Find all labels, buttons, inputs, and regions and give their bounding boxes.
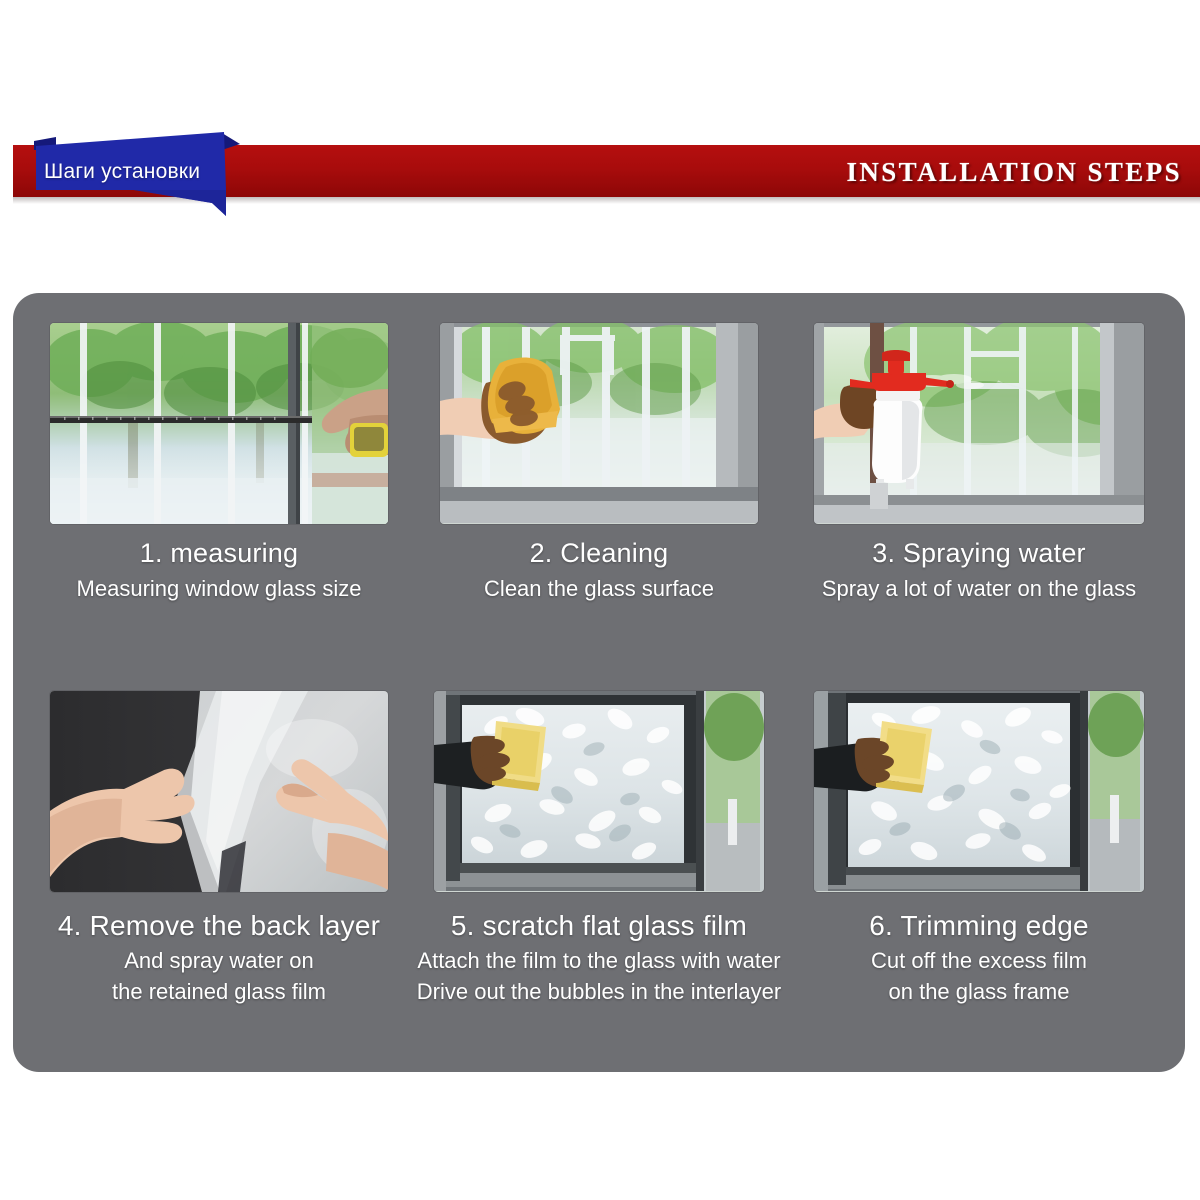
- step-desc-4-line-1: And spray water on: [124, 948, 314, 974]
- step-item-3: 3. Spraying water Spray a lot of water o…: [789, 323, 1169, 691]
- trimming-edge-scene-icon: [814, 691, 1144, 891]
- step-image-4: [50, 691, 388, 892]
- step-desc-5-line-1: Attach the film to the glass with water: [417, 948, 780, 974]
- step-image-5: [434, 691, 764, 892]
- header-title-english: INSTALLATION STEPS: [846, 150, 1182, 194]
- step-desc-3-line-1: Spray a lot of water on the glass: [822, 576, 1136, 602]
- steps-card: 1. measuring Measuring window glass size: [13, 293, 1185, 1072]
- cleaning-glass-scene-icon: [440, 323, 758, 523]
- step-item-2: 2. Cleaning Clean the glass surface: [409, 323, 789, 691]
- step-image-3: [814, 323, 1144, 524]
- step-item-6: 6. Trimming edge Cut off the excess film…: [789, 691, 1169, 1059]
- step-title-6: 6. Trimming edge: [869, 910, 1089, 942]
- step-desc-2-line-1: Clean the glass surface: [484, 576, 714, 602]
- step-item-4: 4. Remove the back layer And spray water…: [29, 691, 409, 1059]
- step-image-6: [814, 691, 1144, 892]
- step-title-3: 3. Spraying water: [872, 538, 1086, 569]
- ribbon-label: Шаги установки: [44, 160, 252, 184]
- step-image-2: [440, 323, 758, 524]
- steps-grid: 1. measuring Measuring window glass size: [13, 293, 1185, 1072]
- step-image-1: [50, 323, 388, 524]
- step-item-1: 1. measuring Measuring window glass size: [29, 323, 409, 691]
- squeegee-film-scene-icon: [434, 691, 764, 891]
- step-desc-4-line-2: the retained glass film: [112, 979, 326, 1005]
- step-desc-5-line-2: Drive out the bubbles in the interlayer: [417, 979, 781, 1005]
- step-desc-6-line-2: on the glass frame: [889, 979, 1070, 1005]
- step-desc-6-line-1: Cut off the excess film: [871, 948, 1087, 974]
- header-ribbon: Шаги установки: [26, 128, 266, 223]
- step-title-1: 1. measuring: [140, 538, 298, 569]
- peeling-backing-scene-icon: [50, 691, 388, 892]
- measuring-window-scene-icon: [50, 323, 388, 524]
- step-title-5: 5. scratch flat glass film: [451, 910, 747, 942]
- step-title-2: 2. Cleaning: [530, 538, 669, 569]
- spraying-water-scene-icon: [814, 323, 1144, 523]
- step-title-4: 4. Remove the back layer: [58, 910, 380, 942]
- step-item-5: 5. scratch flat glass film Attach the fi…: [409, 691, 789, 1059]
- step-desc-1-line-1: Measuring window glass size: [77, 576, 362, 602]
